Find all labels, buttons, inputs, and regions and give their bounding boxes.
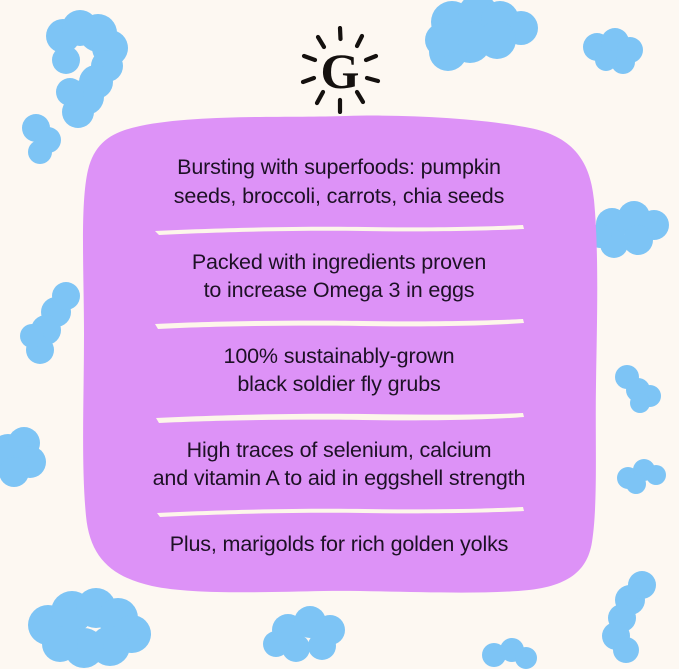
feature-item-superfoods: Bursting with superfoods: pumpkin seeds,… (78, 153, 600, 210)
feature-line: black soldier fly grubs (86, 370, 592, 399)
cloud-doodle-right-middle (615, 365, 661, 413)
cloud-doodle-top-far-right (583, 28, 643, 74)
feature-item-sustainable-grubs: 100% sustainably-grown black soldier fly… (78, 342, 600, 399)
feature-line: Plus, marigolds for rich golden yolks (86, 530, 592, 559)
cloud-doodle-top-right-big (425, 0, 538, 71)
divider-stroke (153, 506, 525, 518)
poster-canvas: G Bursting with superfoods: pumpkin seed… (0, 0, 679, 669)
feature-line: and vitamin A to aid in eggshell strengt… (86, 464, 592, 493)
feature-item-eggshell-strength: High traces of selenium, calcium and vit… (78, 436, 600, 493)
feature-item-marigolds: Plus, marigolds for rich golden yolks (78, 530, 600, 559)
feature-line: seeds, broccoli, carrots, chia seeds (86, 182, 592, 211)
cloud-doodle-bottom-center-right (482, 638, 537, 669)
brand-logo: G (296, 26, 384, 114)
cloud-doodle-bottom-right (602, 571, 656, 663)
feature-card: Bursting with superfoods: pumpkin seeds,… (78, 112, 600, 596)
divider-stroke (153, 412, 525, 424)
feature-line: High traces of selenium, calcium (86, 436, 592, 465)
cloud-doodle-left-lower (0, 427, 46, 487)
cloud-doodle-left-upper-small (22, 114, 61, 164)
feature-line: 100% sustainably-grown (86, 342, 592, 371)
cloud-doodle-bottom-left (28, 588, 151, 668)
cloud-doodle-top-left (46, 10, 128, 128)
feature-line: Bursting with superfoods: pumpkin (86, 153, 592, 182)
cloud-doodle-bottom-center (263, 606, 345, 662)
feature-line: to increase Omega 3 in eggs (86, 276, 592, 305)
divider-stroke (153, 224, 525, 236)
feature-line: Packed with ingredients proven (86, 248, 592, 277)
cloud-doodle-right-upper (588, 201, 669, 258)
logo-letter: G (321, 43, 360, 99)
cloud-doodle-right-lower (617, 459, 666, 494)
cloud-doodle-left-middle (20, 282, 80, 364)
divider-stroke (153, 318, 525, 330)
feature-list: Bursting with superfoods: pumpkin seeds,… (78, 112, 600, 596)
feature-item-omega-3: Packed with ingredients proven to increa… (78, 248, 600, 305)
